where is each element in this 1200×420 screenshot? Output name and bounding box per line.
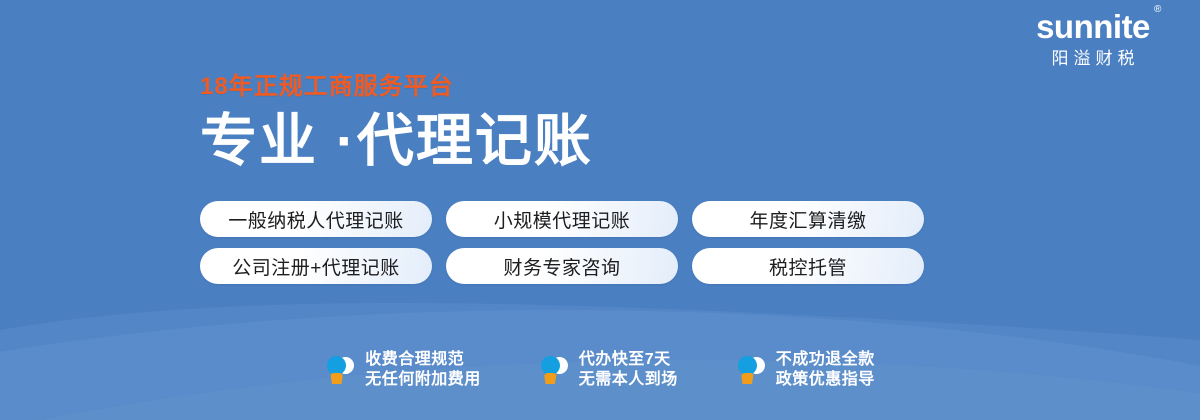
service-pill-grid: 一般纳税人代理记账 小规模代理记账 年度汇算清缴 公司注册+代理记账 财务专家咨… — [200, 201, 924, 284]
feature-line-primary: 代办快至7天 — [579, 350, 678, 370]
service-pill[interactable]: 财务专家咨询 — [446, 248, 678, 284]
feature-line-primary: 收费合理规范 — [365, 350, 481, 370]
badge-icon-base — [741, 373, 754, 384]
feature-line-secondary: 政策优惠指导 — [776, 370, 875, 390]
registered-trademark-icon: ® — [1154, 5, 1161, 15]
service-pill[interactable]: 一般纳税人代理记账 — [200, 201, 432, 237]
badge-icon — [539, 354, 569, 386]
badge-icon — [325, 354, 355, 386]
badge-icon — [736, 354, 766, 386]
hero-headline: 专业 ·代理记账 — [200, 106, 920, 176]
feature-text: 代办快至7天 无需本人到场 — [579, 350, 678, 390]
feature-line-secondary: 无任何附加费用 — [365, 370, 481, 390]
logo-chinese-name: 阳溢财税 — [1008, 48, 1178, 70]
feature-item: 不成功退全款 政策优惠指导 — [736, 350, 875, 390]
service-pill[interactable]: 税控托管 — [692, 248, 924, 284]
feature-item: 代办快至7天 无需本人到场 — [539, 350, 678, 390]
badge-icon-base — [544, 373, 557, 384]
feature-text: 不成功退全款 政策优惠指导 — [776, 350, 875, 390]
logo-wordmark: sunnite ® — [1036, 8, 1150, 46]
badge-icon-circle — [541, 356, 560, 375]
feature-line-secondary: 无需本人到场 — [579, 370, 678, 390]
feature-text: 收费合理规范 无任何附加费用 — [365, 350, 481, 390]
feature-strip: 收费合理规范 无任何附加费用 代办快至7天 无需本人到场 不成功退全款 — [0, 350, 1200, 390]
hero-eyebrow: 18年正规工商服务平台 — [200, 72, 920, 102]
logo-wordmark-text: sunnite — [1036, 8, 1150, 45]
service-pill[interactable]: 公司注册+代理记账 — [200, 248, 432, 284]
promotional-banner: sunnite ® 阳溢财税 18年正规工商服务平台 专业 ·代理记账 一般纳税… — [0, 0, 1200, 420]
feature-line-primary: 不成功退全款 — [776, 350, 875, 370]
feature-item: 收费合理规范 无任何附加费用 — [325, 350, 481, 390]
service-pill[interactable]: 小规模代理记账 — [446, 201, 678, 237]
service-pill[interactable]: 年度汇算清缴 — [692, 201, 924, 237]
brand-logo[interactable]: sunnite ® 阳溢财税 — [1008, 8, 1178, 70]
badge-icon-circle — [738, 356, 757, 375]
hero-text-block: 18年正规工商服务平台 专业 ·代理记账 — [200, 72, 920, 176]
badge-icon-base — [330, 373, 343, 384]
